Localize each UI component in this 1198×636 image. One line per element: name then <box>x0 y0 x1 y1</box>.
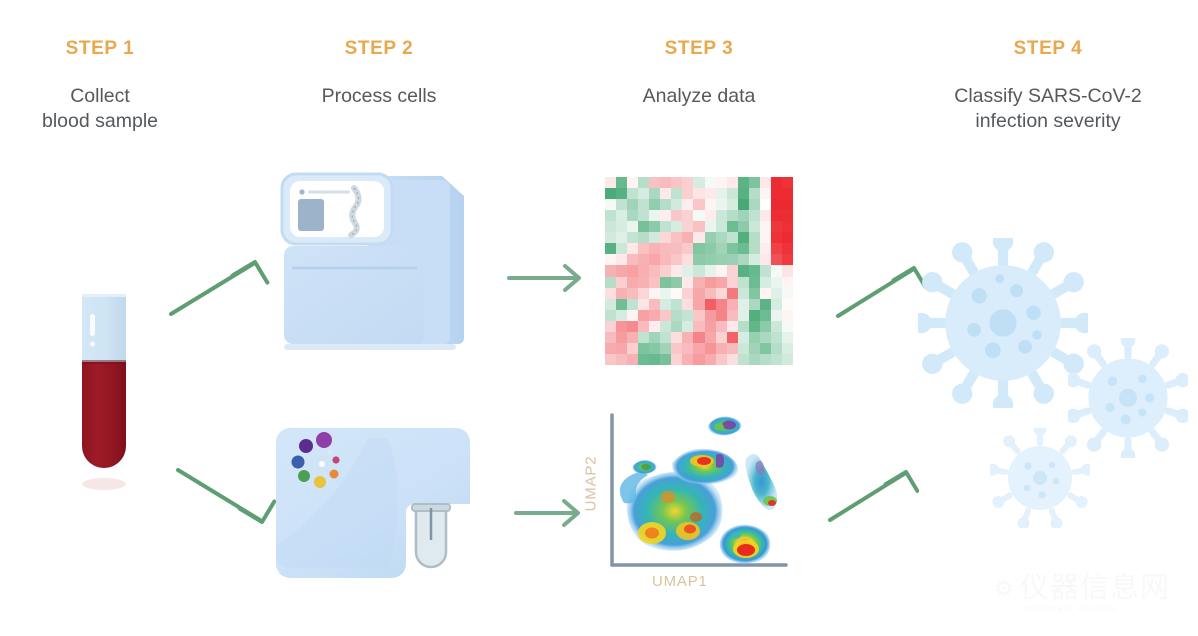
step-column-1: STEP 1 Collect blood sample <box>0 0 250 134</box>
heatmap-cell <box>716 277 727 288</box>
tube-highlight-dot <box>90 342 95 347</box>
heatmap-cell <box>616 188 627 199</box>
step-column-3: STEP 3 Analyze data <box>549 0 849 109</box>
heatmap-cell <box>749 354 760 365</box>
heatmap-cell <box>682 277 693 288</box>
heatmap-cell <box>738 332 749 343</box>
heatmap-cell <box>716 321 727 332</box>
heatmap-cell <box>671 321 682 332</box>
heatmap-cell <box>716 254 727 265</box>
heatmap-cell <box>738 254 749 265</box>
heatmap-cell <box>738 299 749 310</box>
heatmap-cell <box>749 232 760 243</box>
step-column-4: STEP 4 Classify SARS-CoV-2 infection sev… <box>898 0 1198 134</box>
heatmap-cell <box>660 177 671 188</box>
heatmap-cell <box>771 188 782 199</box>
heatmap-cell <box>771 177 782 188</box>
heatmap-cell <box>771 221 782 232</box>
heatmap-cell <box>649 210 660 221</box>
umap-cluster-left-small <box>632 460 656 474</box>
heatmap-cell <box>638 199 649 210</box>
heatmap-cell <box>693 354 704 365</box>
sequencer-instrument <box>272 168 497 363</box>
heatmap-cell <box>649 321 660 332</box>
heatmap-cell <box>693 177 704 188</box>
heatmap-cell <box>660 343 671 354</box>
heatmap-cell <box>738 210 749 221</box>
step-1-label: STEP 1 <box>0 38 250 60</box>
heatmap-cell <box>782 265 793 276</box>
heatmap-cell <box>660 243 671 254</box>
heatmap-cell <box>771 254 782 265</box>
heatmap-cell <box>660 310 671 321</box>
heatmap-cell <box>660 265 671 276</box>
heatmap-cell <box>682 354 693 365</box>
heatmap-cell <box>627 299 638 310</box>
heatmap-cell <box>738 177 749 188</box>
heatmap-cell <box>771 243 782 254</box>
heatmap-cell <box>771 310 782 321</box>
tube-shadow <box>82 478 126 490</box>
heatmap-cell <box>616 310 627 321</box>
heatmap-cell <box>682 299 693 310</box>
heatmap-cell <box>616 199 627 210</box>
heatmap-cell <box>682 199 693 210</box>
heatmap-cell <box>705 277 716 288</box>
heatmap-cell <box>605 354 616 365</box>
heatmap-cell <box>627 354 638 365</box>
arrow-heatmap-to-virus <box>832 258 927 326</box>
heatmap-cell <box>705 210 716 221</box>
heatmap-cell <box>760 310 771 321</box>
heatmap-cell <box>649 343 660 354</box>
heatmap-cell <box>760 254 771 265</box>
heatmap-cell <box>749 310 760 321</box>
heatmap-cell <box>727 299 738 310</box>
heatmap-cell <box>627 210 638 221</box>
heatmap-cell <box>771 265 782 276</box>
heatmap-cell <box>682 265 693 276</box>
flow-cytometer-instrument <box>268 408 503 593</box>
heatmap-cell <box>649 232 660 243</box>
heatmap-cell <box>705 199 716 210</box>
heatmap-cell <box>682 243 693 254</box>
heatmap-cell <box>771 199 782 210</box>
heatmap-cell <box>649 199 660 210</box>
heatmap-cell <box>760 177 771 188</box>
heatmap-cell <box>638 343 649 354</box>
heatmap-cell <box>693 277 704 288</box>
heatmap-cell <box>716 332 727 343</box>
heatmap-cell <box>671 221 682 232</box>
blood-collection-tube <box>58 288 150 496</box>
heatmap-cell <box>760 210 771 221</box>
sequencer-base <box>284 344 456 350</box>
heatmap-cell <box>616 210 627 221</box>
heatmap-cell <box>693 265 704 276</box>
heatmap-cell <box>616 265 627 276</box>
heatmap-cell <box>727 221 738 232</box>
heatmap-cell <box>727 243 738 254</box>
heatmap-cell <box>771 343 782 354</box>
expression-heatmap <box>605 177 793 365</box>
heatmap-cell <box>693 288 704 299</box>
heatmap-cell <box>605 310 616 321</box>
heatmap-cell <box>727 277 738 288</box>
step-2-title: Process cells <box>229 84 529 109</box>
heatmap-cell <box>771 354 782 365</box>
heatmap-cell <box>738 232 749 243</box>
heatmap-cell <box>771 277 782 288</box>
umap-x-axis-label: UMAP1 <box>652 573 708 590</box>
heatmap-cell <box>749 299 760 310</box>
heatmap-cell <box>660 221 671 232</box>
diagram-canvas: STEP 1 Collect blood sample STEP 2 Proce… <box>0 0 1198 636</box>
heatmap-cell <box>727 321 738 332</box>
heatmap-cell <box>771 299 782 310</box>
heatmap-cell <box>716 232 727 243</box>
heatmap-cell <box>660 332 671 343</box>
heatmap-cell <box>760 188 771 199</box>
tube-meniscus <box>82 360 126 364</box>
heatmap-cell <box>782 221 793 232</box>
heatmap-cell <box>671 288 682 299</box>
heatmap-cell <box>716 199 727 210</box>
heatmap-cell <box>727 343 738 354</box>
heatmap-cell <box>782 254 793 265</box>
heatmap-cell <box>649 221 660 232</box>
heatmap-cell <box>693 232 704 243</box>
virus-particle-small <box>990 428 1090 528</box>
heatmap-cell <box>605 210 616 221</box>
heatmap-cell <box>638 288 649 299</box>
arrow-umap-to-virus <box>824 462 919 530</box>
heatmap-cell <box>682 254 693 265</box>
heatmap-cell <box>616 299 627 310</box>
heatmap-cell <box>616 177 627 188</box>
heatmap-cell <box>627 343 638 354</box>
heatmap-cell <box>671 243 682 254</box>
heatmap-cell <box>693 188 704 199</box>
heatmap-cell <box>705 332 716 343</box>
heatmap-cell <box>682 288 693 299</box>
heatmap-cell <box>738 265 749 276</box>
umap-cluster-top-small <box>708 416 742 435</box>
heatmap-cell <box>760 265 771 276</box>
screen-status-dot <box>299 189 304 194</box>
arrow-sequencer-to-heatmap <box>505 258 595 298</box>
heatmap-cell <box>605 232 616 243</box>
heatmap-cell <box>782 332 793 343</box>
heatmap-cell <box>627 177 638 188</box>
heatmap-cell <box>716 343 727 354</box>
heatmap-cell <box>705 221 716 232</box>
heatmap-cell <box>616 277 627 288</box>
heatmap-cell <box>627 221 638 232</box>
heatmap-cell <box>749 277 760 288</box>
heatmap-cell <box>671 277 682 288</box>
heatmap-cell <box>760 321 771 332</box>
heatmap-cell <box>738 221 749 232</box>
heatmap-cell <box>671 343 682 354</box>
heatmap-cell <box>727 232 738 243</box>
heatmap-cell <box>682 221 693 232</box>
heatmap-cell <box>605 299 616 310</box>
heatmap-cell <box>705 243 716 254</box>
heatmap-cell <box>605 243 616 254</box>
heatmap-cell <box>605 221 616 232</box>
heatmap-cell <box>738 188 749 199</box>
heatmap-cell <box>616 288 627 299</box>
watermark-chinese-text: 仪器信息网 <box>1020 572 1190 602</box>
umap-cluster-right-elongated <box>746 454 778 510</box>
heatmap-cell <box>627 265 638 276</box>
heatmap-cell <box>627 254 638 265</box>
heatmap-cell <box>649 277 660 288</box>
heatmap-cell <box>649 332 660 343</box>
heatmap-cell <box>749 254 760 265</box>
heatmap-cell <box>738 343 749 354</box>
heatmap-cell <box>749 221 760 232</box>
arrow-step1-to-sequencer <box>165 252 270 324</box>
heatmap-cell <box>638 210 649 221</box>
heatmap-cell <box>671 299 682 310</box>
watermark-english-text: Instrument sources <box>1020 603 1190 613</box>
heatmap-cell <box>671 188 682 199</box>
heatmap-cell <box>605 332 616 343</box>
virus-particle-large <box>918 238 1088 408</box>
heatmap-cell <box>638 177 649 188</box>
step-column-2: STEP 2 Process cells <box>229 0 529 109</box>
heatmap-cell <box>782 288 793 299</box>
heatmap-cell <box>693 210 704 221</box>
heatmap-cell <box>738 321 749 332</box>
heatmap-cell <box>627 232 638 243</box>
heatmap-cell <box>605 188 616 199</box>
screen-sample-block <box>298 199 324 231</box>
step-3-label: STEP 3 <box>549 38 849 60</box>
heatmap-cell <box>716 310 727 321</box>
umap-y-axis-label: UMAP2 <box>583 449 600 519</box>
heatmap-cell <box>660 188 671 199</box>
heatmap-cell <box>605 254 616 265</box>
heatmap-cell <box>738 288 749 299</box>
heatmap-cell <box>693 321 704 332</box>
heatmap-cell <box>682 343 693 354</box>
heatmap-cell <box>705 265 716 276</box>
heatmap-cell <box>727 265 738 276</box>
heatmap-cell <box>660 210 671 221</box>
heatmap-cell <box>671 332 682 343</box>
heatmap-cell <box>716 188 727 199</box>
heatmap-cell <box>727 210 738 221</box>
heatmap-cell <box>749 321 760 332</box>
heatmap-cell <box>705 310 716 321</box>
heatmap-cell <box>760 354 771 365</box>
heatmap-cell <box>627 332 638 343</box>
heatmap-cell <box>693 310 704 321</box>
heatmap-cell <box>605 177 616 188</box>
heatmap-cell <box>660 199 671 210</box>
step-1-title: Collect blood sample <box>0 84 250 134</box>
step-4-title: Classify SARS-CoV-2 infection severity <box>898 84 1198 134</box>
heatmap-cell <box>605 321 616 332</box>
heatmap-cell <box>660 288 671 299</box>
heatmap-cell <box>760 243 771 254</box>
heatmap-cell <box>671 310 682 321</box>
heatmap-cell <box>693 199 704 210</box>
heatmap-cell <box>693 343 704 354</box>
heatmap-cell <box>638 299 649 310</box>
screen-header-bar <box>308 191 350 194</box>
heatmap-cell <box>727 310 738 321</box>
heatmap-cell <box>605 288 616 299</box>
heatmap-cell <box>705 232 716 243</box>
heatmap-cell <box>749 210 760 221</box>
tube-blood-fill <box>82 362 126 468</box>
heatmap-cell <box>760 199 771 210</box>
heatmap-cell <box>760 232 771 243</box>
heatmap-cell <box>760 221 771 232</box>
heatmap-cell <box>660 232 671 243</box>
heatmap-cell <box>693 299 704 310</box>
heatmap-cell <box>727 188 738 199</box>
heatmap-cell <box>782 188 793 199</box>
heatmap-cell <box>649 243 660 254</box>
heatmap-cell <box>771 288 782 299</box>
heatmap-cell <box>782 232 793 243</box>
heatmap-cell <box>749 199 760 210</box>
heatmap-cell <box>682 210 693 221</box>
heatmap-cell <box>660 277 671 288</box>
heatmap-cell <box>705 321 716 332</box>
heatmap-cell <box>682 188 693 199</box>
heatmap-cell <box>782 321 793 332</box>
heatmap-cell <box>671 210 682 221</box>
heatmap-cell <box>649 188 660 199</box>
heatmap-cell <box>738 354 749 365</box>
heatmap-cell <box>693 221 704 232</box>
heatmap-cell <box>749 177 760 188</box>
heatmap-cell <box>749 343 760 354</box>
heatmap-cell <box>727 199 738 210</box>
umap-plot: UMAP1 UMAP2 <box>580 405 800 605</box>
heatmap-cell <box>727 332 738 343</box>
heatmap-cell <box>638 332 649 343</box>
heatmap-cell <box>693 254 704 265</box>
heatmap-cell <box>760 332 771 343</box>
heatmap-cell <box>616 354 627 365</box>
heatmap-cell <box>627 243 638 254</box>
heatmap-cell <box>660 299 671 310</box>
heatmap-cell <box>649 177 660 188</box>
sequencer-front-body <box>284 246 424 344</box>
arrow-step1-to-cytometer <box>172 460 277 532</box>
heatmap-cell <box>627 277 638 288</box>
heatmap-cell <box>782 343 793 354</box>
heatmap-cell <box>760 277 771 288</box>
heatmap-cell <box>716 288 727 299</box>
heatmap-cell <box>782 354 793 365</box>
heatmap-cell <box>727 288 738 299</box>
heatmap-cell <box>738 277 749 288</box>
heatmap-cell <box>782 277 793 288</box>
heatmap-cell <box>649 299 660 310</box>
heatmap-cell <box>771 332 782 343</box>
heatmap-cell <box>771 232 782 243</box>
heatmap-cell <box>682 310 693 321</box>
heatmap-cell <box>638 254 649 265</box>
heatmap-cell <box>671 265 682 276</box>
umap-cluster-lower-right <box>720 525 770 564</box>
heatmap-cell <box>749 288 760 299</box>
heatmap-cell <box>682 332 693 343</box>
heatmap-cell <box>649 354 660 365</box>
heatmap-cell <box>705 188 716 199</box>
heatmap-cell <box>749 265 760 276</box>
heatmap-cell <box>716 210 727 221</box>
heatmap-cell <box>716 177 727 188</box>
heatmap-cell <box>671 199 682 210</box>
heatmap-cell <box>616 243 627 254</box>
heatmap-cell <box>693 332 704 343</box>
step-3-title: Analyze data <box>549 84 849 109</box>
heatmap-cell <box>738 310 749 321</box>
heatmap-cell <box>727 177 738 188</box>
watermark-logo-icon: ⚙ <box>994 576 1014 602</box>
heatmap-cell <box>716 243 727 254</box>
heatmap-cell <box>716 265 727 276</box>
heatmap-cell <box>671 354 682 365</box>
heatmap-cell <box>727 254 738 265</box>
heatmap-cell <box>616 254 627 265</box>
heatmap-cell <box>705 177 716 188</box>
heatmap-cell <box>738 243 749 254</box>
heatmap-cell <box>705 288 716 299</box>
heatmap-cell <box>638 321 649 332</box>
heatmap-cell <box>638 277 649 288</box>
heatmap-cell <box>649 310 660 321</box>
step-2-label: STEP 2 <box>229 38 529 60</box>
heatmap-cell <box>705 299 716 310</box>
heatmap-cell <box>705 254 716 265</box>
heatmap-cell <box>616 332 627 343</box>
heatmap-cell <box>638 232 649 243</box>
heatmap-cell <box>760 343 771 354</box>
heatmap-cell <box>682 177 693 188</box>
heatmap-cell <box>627 199 638 210</box>
heatmap-cell <box>638 310 649 321</box>
tube-highlight <box>90 314 95 336</box>
heatmap-cell <box>782 243 793 254</box>
heatmap-cell <box>782 210 793 221</box>
heatmap-cell <box>627 288 638 299</box>
heatmap-cell <box>649 265 660 276</box>
heatmap-cell <box>671 177 682 188</box>
heatmap-cell <box>760 288 771 299</box>
heatmap-cell <box>716 354 727 365</box>
step-4-label: STEP 4 <box>898 38 1198 60</box>
heatmap-cell <box>716 221 727 232</box>
heatmap-cell <box>638 188 649 199</box>
heatmap-cell <box>705 343 716 354</box>
heatmap-cell <box>638 221 649 232</box>
heatmap-cell <box>671 254 682 265</box>
heatmap-cell <box>638 243 649 254</box>
heatmap-cell <box>605 343 616 354</box>
heatmap-cell <box>782 177 793 188</box>
heatmap-cell <box>660 254 671 265</box>
